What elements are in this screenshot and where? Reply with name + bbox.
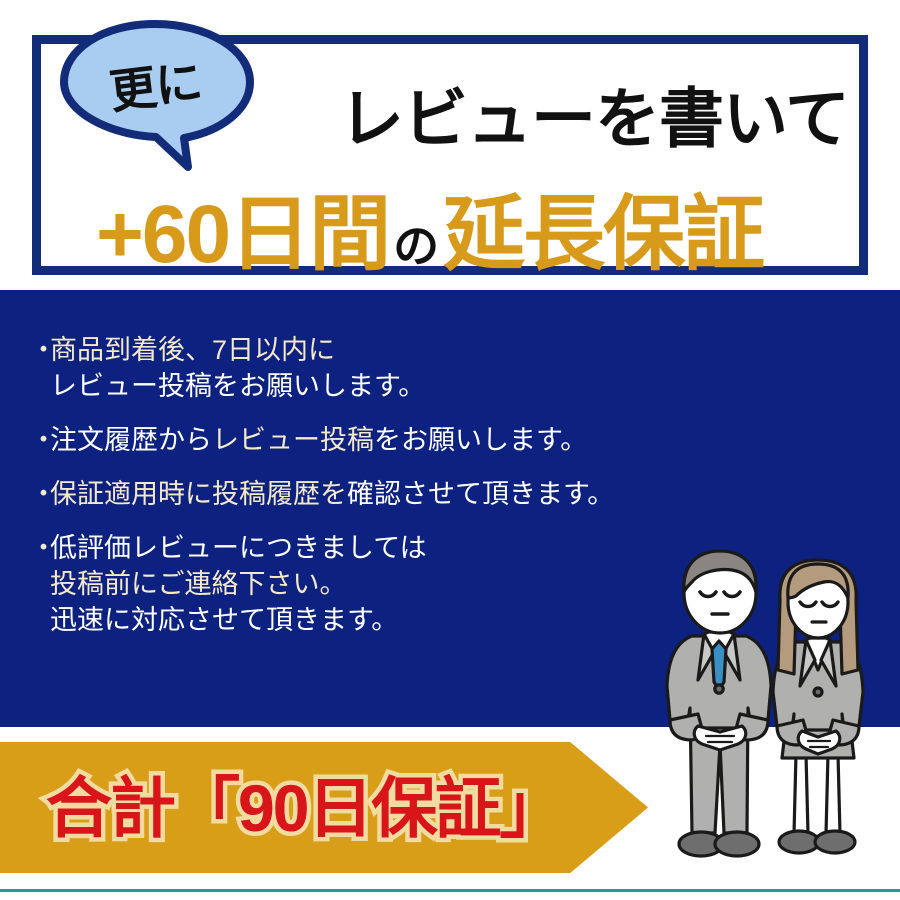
bowing-staff-illustration <box>648 548 900 888</box>
bullet-marker-icon: ・ <box>30 476 50 512</box>
list-item-text: 保証適用時に投稿履歴を確認させて頂きます。 <box>50 476 820 512</box>
headline-gold-suffix: 延長保証 <box>443 194 763 276</box>
list-item-segment: をお願いします。 <box>374 425 587 455</box>
list-item: ・ 保証適用時に投稿履歴を確認させて頂きます。 <box>30 476 820 512</box>
list-item-segment: 注文履歴から <box>50 425 212 455</box>
business-man-figure <box>667 551 771 856</box>
list-item: ・ 注文履歴からレビュー投稿をお願いします。 <box>30 422 820 458</box>
list-item-line: 注文履歴からレビュー投稿をお願いします。 <box>50 422 820 458</box>
bullet-marker-icon: ・ <box>30 422 50 458</box>
bullet-marker-icon: ・ <box>30 332 50 368</box>
list-item: ・ 商品到着後、7日以内に レビュー投稿をお願いします。 <box>30 332 820 404</box>
list-item-line: レビュー投稿をお願いします。 <box>50 368 820 404</box>
speech-bubble-label: 更に <box>53 10 256 154</box>
list-item-segment: レビュー投稿 <box>212 425 374 455</box>
headline-particle: の <box>389 223 443 269</box>
bullet-marker-icon: ・ <box>30 530 50 566</box>
promotional-banner: レビューを書いて +60日間 の 延長保証 更に ・ 商品到着後、7日以内に レ… <box>0 0 900 900</box>
gold-banner-label: 合計「90日保証」 <box>46 760 563 856</box>
headline-secondary: +60日間 の 延長保証 <box>96 194 763 276</box>
business-woman-figure <box>773 560 863 853</box>
list-item-text: 商品到着後、7日以内に レビュー投稿をお願いします。 <box>50 332 820 404</box>
speech-bubble: 更に <box>60 21 274 171</box>
list-item-text: 注文履歴からレビュー投稿をお願いします。 <box>50 422 820 458</box>
headline-primary: レビューを書いて <box>339 86 849 151</box>
list-item-segment: 確認させて頂きます。 <box>347 479 614 509</box>
list-item-segment: 保証適用時に投稿履歴を <box>50 479 347 509</box>
bottom-divider <box>0 889 900 892</box>
list-item-line: 保証適用時に投稿履歴を確認させて頂きます。 <box>50 476 820 512</box>
list-item-line: 商品到着後、7日以内に <box>50 332 820 368</box>
headline-gold-prefix: +60日間 <box>96 194 389 276</box>
